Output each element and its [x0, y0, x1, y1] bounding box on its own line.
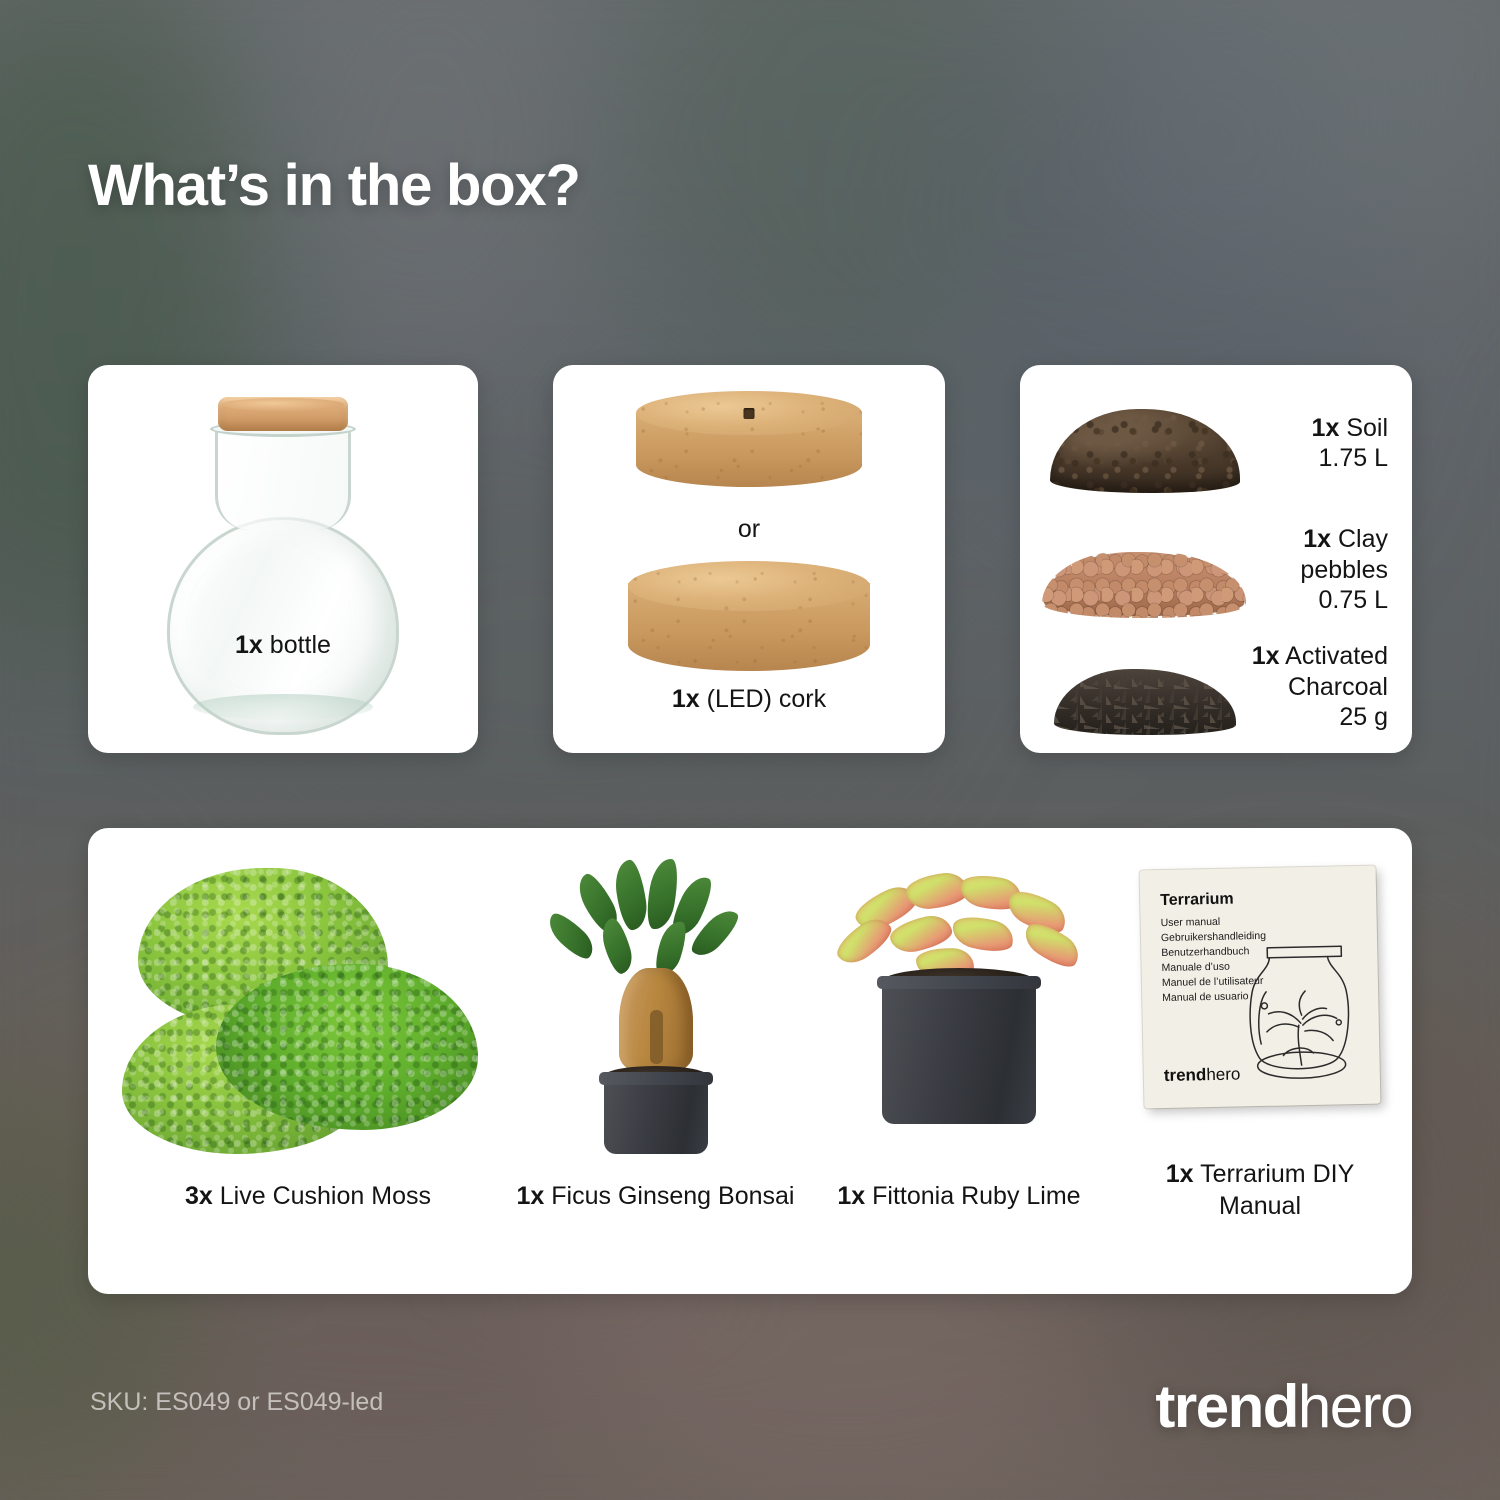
- manual-title: Terrarium: [1160, 891, 1234, 911]
- fittonia-ruby-lime-icon: [794, 856, 1124, 1156]
- substrate-row-charcoal: 1x Activated Charcoal 25 g: [1020, 631, 1412, 743]
- activated-charcoal-icon: [1036, 631, 1250, 743]
- charcoal-label: Activated Charcoal: [1285, 642, 1388, 701]
- moss-label: 3x Live Cushion Moss: [108, 1180, 508, 1212]
- bottle-name: bottle: [270, 631, 331, 659]
- manual-booklet-icon: Terrarium User manual Gebruikershandleid…: [1124, 868, 1396, 1168]
- bottle-label: 1x bottle: [88, 631, 478, 660]
- manual-qty: 1x: [1166, 1160, 1194, 1188]
- manual-brand-logo: trendhero: [1164, 1064, 1241, 1086]
- led-hole-icon: [744, 408, 755, 419]
- clay-text: 1x Clay pebbles 0.75 L: [1250, 524, 1412, 616]
- plant-cell-manual: Terrarium User manual Gebruikershandleid…: [1124, 828, 1396, 1294]
- plants-card: 3x Live Cushion Moss 1x Ficus Ginseng Bo…: [88, 828, 1412, 1294]
- cushion-moss-icon: [108, 856, 508, 1156]
- jar-base-shade: [193, 694, 373, 720]
- brand-logo: trendhero: [1155, 1372, 1412, 1441]
- charcoal-text: 1x Activated Charcoal 25 g: [1250, 641, 1412, 733]
- bottle-qty: 1x: [235, 631, 263, 659]
- cork-name: (LED) cork: [707, 685, 826, 713]
- brand-light: hero: [1298, 1373, 1412, 1440]
- substrate-row-soil: 1x Soil 1.75 L: [1020, 381, 1412, 505]
- page-title: What’s in the box?: [88, 152, 580, 219]
- moss-name: Live Cushion Moss: [220, 1182, 431, 1210]
- clay-pebbles-icon: [1036, 514, 1250, 626]
- substrate-card: 1x Soil 1.75 L 1x Clay pebbles 0.75 L 1x…: [1020, 365, 1412, 753]
- manual-label: 1x Terrarium DIY Manual: [1124, 1158, 1396, 1222]
- manual-cover: Terrarium User manual Gebruikershandleid…: [1140, 866, 1381, 1109]
- manual-brand-light: hero: [1206, 1064, 1240, 1084]
- bonsai-label: 1x Ficus Ginseng Bonsai: [513, 1180, 798, 1212]
- cork-qty: 1x: [672, 685, 700, 713]
- soil-pile-icon: [1036, 387, 1250, 499]
- jar-cork-icon: [218, 397, 348, 431]
- jar-body-icon: [167, 517, 399, 735]
- plain-cork-top: [628, 561, 870, 611]
- plant-cell-moss: 3x Live Cushion Moss: [108, 828, 508, 1294]
- soil-text: 1x Soil 1.75 L: [1250, 413, 1412, 474]
- charcoal-qty: 1x: [1252, 642, 1280, 670]
- nursery-pot-icon: [882, 976, 1036, 1124]
- fittonia-qty: 1x: [837, 1182, 865, 1210]
- moss-qty: 3x: [185, 1182, 213, 1210]
- plant-cell-fittonia: 1x Fittonia Ruby Lime: [794, 828, 1124, 1294]
- bottle-card: 1x bottle: [88, 365, 478, 753]
- bonsai-qty: 1x: [517, 1182, 545, 1210]
- bottle-illustration: [88, 365, 478, 753]
- clay-qty: 1x: [1303, 525, 1331, 553]
- manual-brand-bold: trend: [1164, 1065, 1207, 1085]
- fittonia-label: 1x Fittonia Ruby Lime: [794, 1180, 1124, 1212]
- plain-cork-icon: [628, 561, 870, 671]
- charcoal-amount: 25 g: [1250, 702, 1388, 733]
- cork-label: 1x (LED) cork: [553, 685, 945, 714]
- soil-label: Soil: [1346, 414, 1388, 442]
- manual-jar-drawing-icon: [1221, 930, 1374, 1093]
- bonsai-name: Ficus Ginseng Bonsai: [551, 1182, 794, 1210]
- manual-name: Terrarium DIY Manual: [1200, 1160, 1354, 1220]
- soil-qty: 1x: [1312, 414, 1340, 442]
- brand-bold: trend: [1155, 1373, 1298, 1440]
- led-cork-icon: [636, 391, 862, 487]
- fittonia-name: Fittonia Ruby Lime: [872, 1182, 1080, 1210]
- cork-texture: [628, 561, 870, 611]
- jar-neck-icon: [215, 426, 351, 530]
- cork-card: or 1x (LED) cork: [553, 365, 945, 753]
- nursery-pot-icon: [604, 1072, 708, 1154]
- plant-cell-bonsai: 1x Ficus Ginseng Bonsai: [513, 828, 798, 1294]
- ficus-ginseng-bonsai-icon: [513, 856, 798, 1156]
- substrate-row-clay: 1x Clay pebbles 0.75 L: [1020, 511, 1412, 629]
- sku-text: SKU: ES049 or ES049-led: [90, 1388, 383, 1417]
- soil-amount: 1.75 L: [1250, 443, 1388, 474]
- cork-or-separator: or: [553, 515, 945, 544]
- clay-amount: 0.75 L: [1250, 585, 1388, 616]
